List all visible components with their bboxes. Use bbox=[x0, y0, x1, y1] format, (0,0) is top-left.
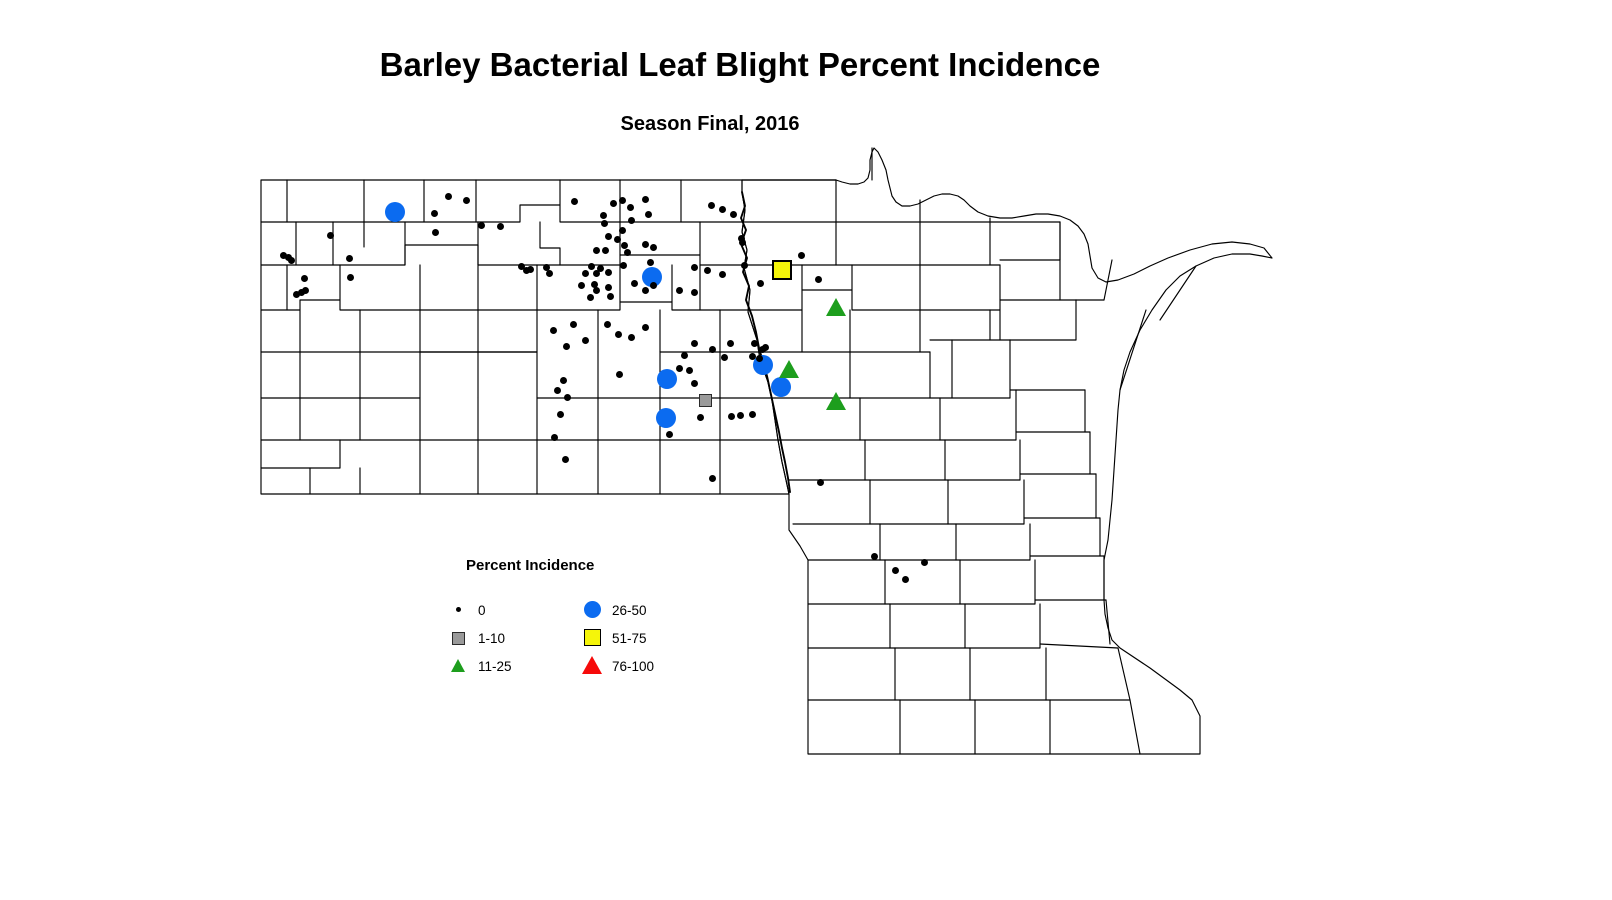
map-data-point-26-50 bbox=[656, 408, 676, 428]
map-data-point-0 bbox=[605, 233, 612, 240]
map-data-point-0 bbox=[432, 229, 439, 236]
map-data-point-0 bbox=[588, 263, 595, 270]
map-data-point-0 bbox=[691, 289, 698, 296]
map-data-point-0 bbox=[543, 264, 550, 271]
map-data-point-0 bbox=[719, 206, 726, 213]
legend-item-label: 0 bbox=[478, 603, 486, 618]
map-data-point-0 bbox=[751, 340, 758, 347]
map-data-point-0 bbox=[892, 567, 899, 574]
map-data-point-0 bbox=[327, 232, 334, 239]
legend-column-1: 0 1-10 11-25 bbox=[448, 596, 512, 680]
map-data-point-0 bbox=[557, 411, 564, 418]
map-data-point-0 bbox=[562, 456, 569, 463]
map-data-point-0 bbox=[564, 394, 571, 401]
map-data-point-0 bbox=[691, 380, 698, 387]
map-data-point-0 bbox=[749, 353, 756, 360]
map-data-point-0 bbox=[728, 413, 735, 420]
legend-item-label: 1-10 bbox=[478, 631, 505, 646]
map-data-point-0 bbox=[293, 291, 300, 298]
map-data-point-26-50 bbox=[657, 369, 677, 389]
map-data-point-0 bbox=[624, 249, 631, 256]
map-data-point-0 bbox=[721, 354, 728, 361]
legend: Percent Incidence 0 1-10 11-25 26-50 bbox=[440, 552, 700, 687]
legend-item-label: 26-50 bbox=[612, 603, 647, 618]
map-data-point-0 bbox=[551, 434, 558, 441]
legend-item-76-100[interactable]: 76-100 bbox=[582, 652, 654, 680]
map-data-point-0 bbox=[601, 220, 608, 227]
map-data-point-0 bbox=[593, 247, 600, 254]
map-data-point-0 bbox=[739, 239, 746, 246]
map-data-point-26-50 bbox=[771, 377, 791, 397]
map-data-point-0 bbox=[563, 343, 570, 350]
data-points-layer bbox=[0, 0, 1612, 900]
yellow-square-icon bbox=[582, 627, 608, 649]
red-triangle-icon bbox=[582, 655, 608, 677]
map-data-point-0 bbox=[298, 289, 305, 296]
map-data-point-0 bbox=[597, 265, 604, 272]
grey-square-icon bbox=[448, 627, 474, 649]
map-data-point-0 bbox=[737, 412, 744, 419]
map-data-point-1-10 bbox=[699, 394, 712, 407]
map-data-point-0 bbox=[741, 262, 748, 269]
map-data-point-0 bbox=[691, 340, 698, 347]
map-data-point-0 bbox=[759, 346, 766, 353]
map-data-point-11-25 bbox=[826, 392, 846, 410]
map-data-point-0 bbox=[600, 212, 607, 219]
map-data-point-0 bbox=[593, 287, 600, 294]
map-data-point-0 bbox=[591, 281, 598, 288]
map-data-point-0 bbox=[285, 254, 292, 261]
map-data-point-0 bbox=[518, 263, 525, 270]
map-data-point-0 bbox=[871, 553, 878, 560]
legend-item-label: 51-75 bbox=[612, 631, 647, 646]
map-data-point-0 bbox=[347, 274, 354, 281]
map-data-point-0 bbox=[619, 227, 626, 234]
map-data-point-0 bbox=[650, 244, 657, 251]
map-data-point-0 bbox=[620, 262, 627, 269]
legend-item-label: 76-100 bbox=[612, 659, 654, 674]
map-data-point-0 bbox=[607, 293, 614, 300]
legend-item-11-25[interactable]: 11-25 bbox=[448, 652, 512, 680]
map-data-point-0 bbox=[604, 321, 611, 328]
map-data-point-26-50 bbox=[753, 355, 773, 375]
map-data-point-0 bbox=[642, 287, 649, 294]
map-data-point-0 bbox=[817, 479, 824, 486]
legend-item-1-10[interactable]: 1-10 bbox=[448, 624, 512, 652]
legend-column-2: 26-50 51-75 76-100 bbox=[582, 596, 654, 680]
map-data-point-0 bbox=[302, 287, 309, 294]
map-data-point-0 bbox=[605, 269, 612, 276]
map-data-point-0 bbox=[288, 257, 295, 264]
map-data-point-0 bbox=[301, 275, 308, 282]
map-data-point-0 bbox=[642, 196, 649, 203]
map-data-point-0 bbox=[614, 236, 621, 243]
map-data-point-0 bbox=[582, 270, 589, 277]
map-data-point-0 bbox=[738, 235, 745, 242]
map-data-point-0 bbox=[666, 431, 673, 438]
map-data-point-0 bbox=[593, 270, 600, 277]
legend-item-label: 11-25 bbox=[478, 659, 512, 674]
map-data-point-0 bbox=[704, 267, 711, 274]
map-container bbox=[0, 0, 1612, 900]
map-data-point-0 bbox=[523, 267, 530, 274]
map-data-point-0 bbox=[587, 294, 594, 301]
map-data-point-0 bbox=[730, 211, 737, 218]
map-data-point-0 bbox=[610, 200, 617, 207]
map-data-point-0 bbox=[650, 282, 657, 289]
map-data-point-0 bbox=[798, 252, 805, 259]
green-triangle-icon bbox=[448, 655, 474, 677]
map-data-point-0 bbox=[631, 280, 638, 287]
map-data-point-0 bbox=[527, 266, 534, 273]
map-data-point-0 bbox=[280, 252, 287, 259]
map-data-point-0 bbox=[645, 211, 652, 218]
map-data-point-0 bbox=[719, 271, 726, 278]
map-data-point-0 bbox=[756, 355, 763, 362]
legend-title: Percent Incidence bbox=[466, 557, 594, 574]
map-data-point-0 bbox=[615, 331, 622, 338]
map-data-point-0 bbox=[550, 327, 557, 334]
map-data-point-0 bbox=[686, 367, 693, 374]
legend-item-26-50[interactable]: 26-50 bbox=[582, 596, 654, 624]
map-data-point-0 bbox=[578, 282, 585, 289]
map-data-point-0 bbox=[628, 217, 635, 224]
map-data-point-0 bbox=[757, 280, 764, 287]
map-data-point-26-50 bbox=[642, 267, 662, 287]
map-data-point-0 bbox=[708, 202, 715, 209]
map-data-point-0 bbox=[627, 204, 634, 211]
map-data-point-0 bbox=[602, 247, 609, 254]
map-data-point-0 bbox=[619, 197, 626, 204]
map-data-point-0 bbox=[570, 321, 577, 328]
map-data-point-0 bbox=[478, 222, 485, 229]
map-data-point-0 bbox=[554, 387, 561, 394]
map-data-point-0 bbox=[921, 559, 928, 566]
map-data-point-26-50 bbox=[385, 202, 405, 222]
map-data-point-0 bbox=[681, 352, 688, 359]
blue-circle-icon bbox=[582, 599, 608, 621]
map-data-point-0 bbox=[902, 576, 909, 583]
legend-item-51-75[interactable]: 51-75 bbox=[582, 624, 654, 652]
map-data-point-0 bbox=[621, 242, 628, 249]
map-data-point-0 bbox=[463, 197, 470, 204]
map-data-point-0 bbox=[642, 324, 649, 331]
map-data-point-0 bbox=[546, 270, 553, 277]
small-dot-icon bbox=[448, 599, 474, 621]
legend-item-0[interactable]: 0 bbox=[448, 596, 512, 624]
map-data-point-0 bbox=[582, 337, 589, 344]
map-data-point-0 bbox=[691, 264, 698, 271]
map-data-point-0 bbox=[749, 411, 756, 418]
map-data-point-0 bbox=[815, 276, 822, 283]
map-data-point-0 bbox=[676, 365, 683, 372]
map-data-point-11-25 bbox=[826, 298, 846, 316]
map-data-point-0 bbox=[709, 346, 716, 353]
map-data-point-0 bbox=[616, 371, 623, 378]
map-data-point-0 bbox=[445, 193, 452, 200]
map-data-point-0 bbox=[676, 287, 683, 294]
map-data-point-0 bbox=[697, 414, 704, 421]
map-data-point-0 bbox=[497, 223, 504, 230]
map-data-point-0 bbox=[628, 334, 635, 341]
map-data-point-0 bbox=[642, 241, 649, 248]
map-data-point-0 bbox=[560, 377, 567, 384]
map-data-point-51-75 bbox=[772, 260, 792, 280]
map-data-point-0 bbox=[709, 475, 716, 482]
map-data-point-0 bbox=[346, 255, 353, 262]
map-data-point-0 bbox=[605, 284, 612, 291]
map-data-point-0 bbox=[762, 344, 769, 351]
figure-canvas: Barley Bacterial Leaf Blight Percent Inc… bbox=[0, 0, 1612, 900]
map-data-point-0 bbox=[727, 340, 734, 347]
map-data-point-0 bbox=[431, 210, 438, 217]
map-data-point-11-25 bbox=[779, 360, 799, 378]
map-data-point-0 bbox=[647, 259, 654, 266]
map-data-point-0 bbox=[571, 198, 578, 205]
